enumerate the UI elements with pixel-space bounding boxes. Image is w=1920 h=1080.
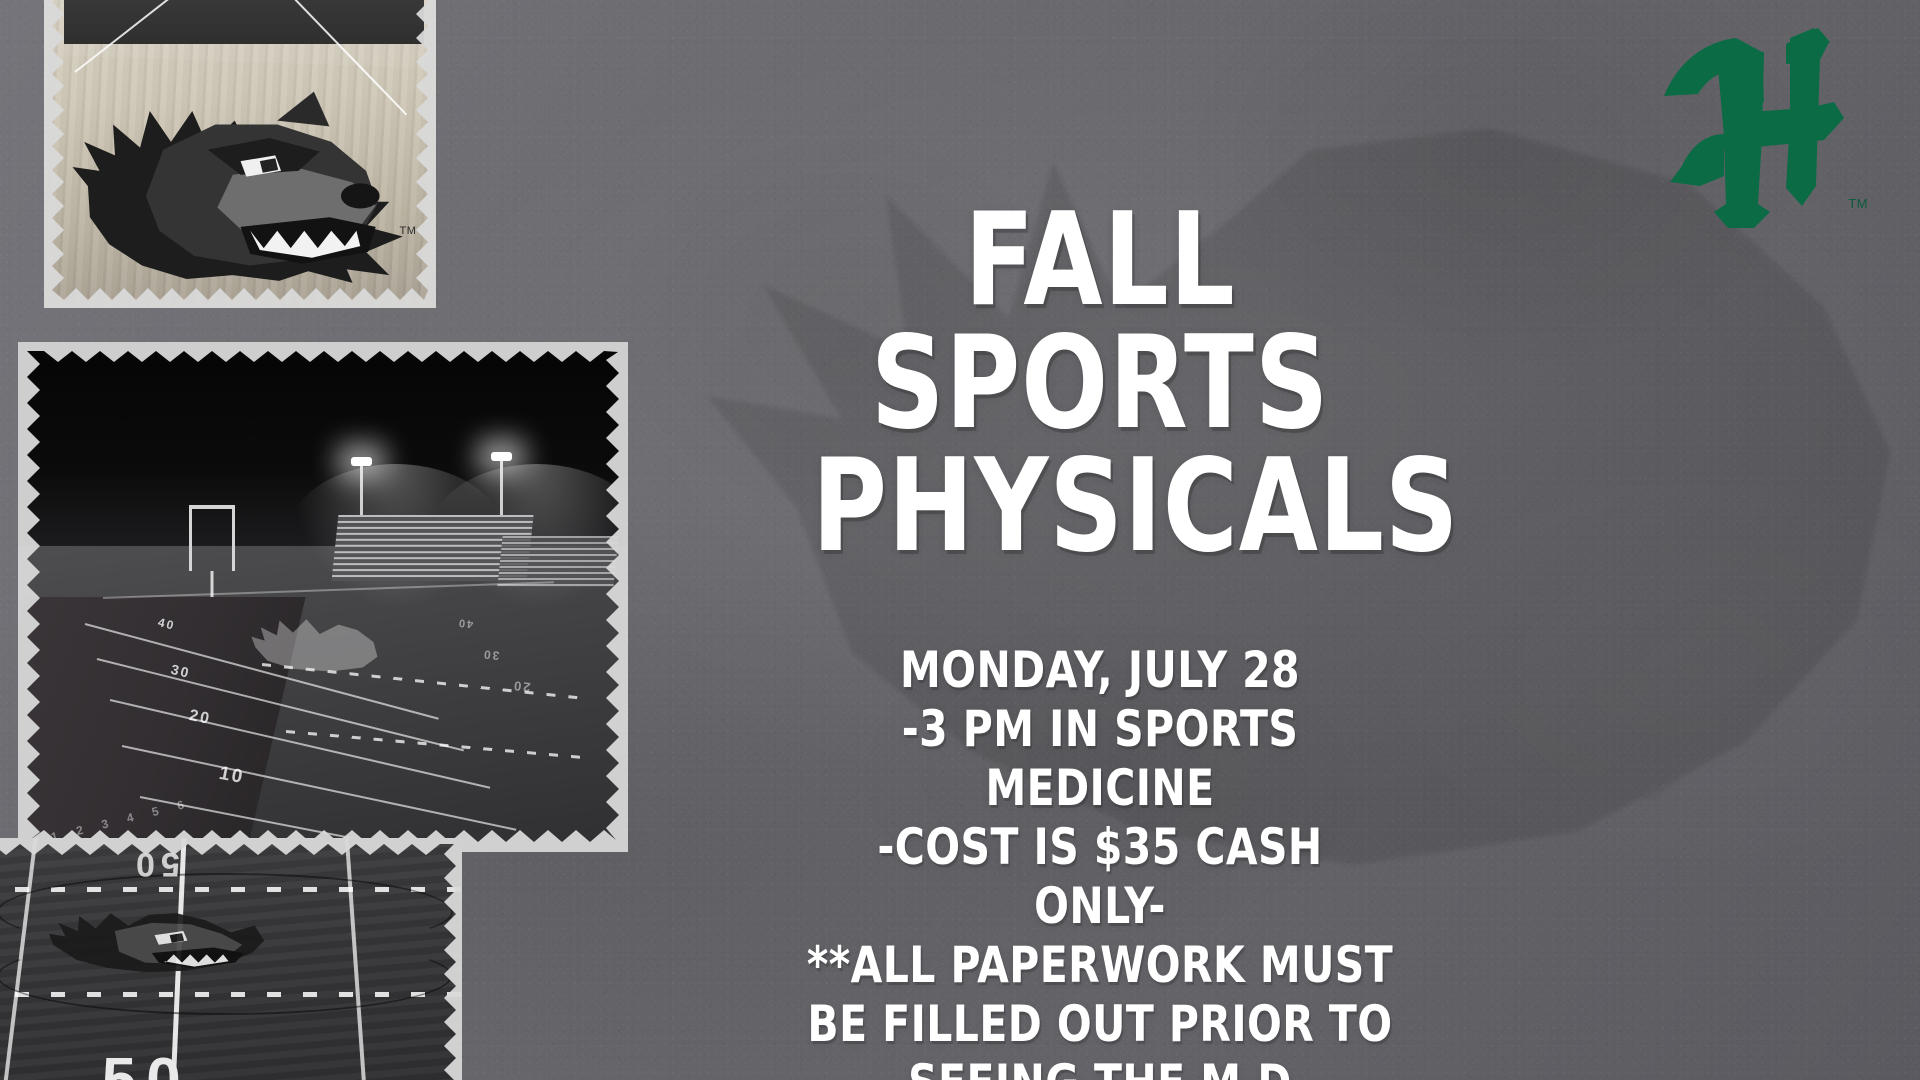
detail-line-note-2: BE FILLED OUT PRIOR TO bbox=[805, 995, 1395, 1054]
midfield-photo-inner: 50 50 bbox=[0, 838, 462, 1080]
midfield-yard-number: 50 bbox=[102, 1045, 191, 1080]
field-yard-number: 40 bbox=[457, 617, 474, 631]
detail-line-cost: -COST IS $35 CASH bbox=[805, 818, 1395, 877]
detail-line-note-3: SEEING THE M.D bbox=[805, 1054, 1395, 1080]
photo-midfield-logo: 50 50 bbox=[0, 838, 462, 1080]
field-yard-number: 30 bbox=[481, 647, 500, 663]
event-details: MONDAY, JULY 28 -3 PM IN SPORTS MEDICINE… bbox=[805, 641, 1395, 1080]
detail-line-note-1: **ALL PAPERWORK MUST bbox=[805, 936, 1395, 995]
detail-line-time: -3 PM IN SPORTS bbox=[805, 700, 1395, 759]
field-yard-number: 20 bbox=[511, 678, 531, 695]
goalpost bbox=[189, 505, 235, 571]
poster-canvas: TM 40 30 20 bbox=[0, 0, 1920, 1080]
detail-line-location: MEDICINE bbox=[805, 759, 1395, 818]
gym-trademark-label: TM bbox=[400, 225, 417, 237]
poster-content: FALL SPORTS PHYSICALS MONDAY, JULY 28 -3… bbox=[740, 200, 1460, 1080]
detail-line-cost-cont: ONLY- bbox=[805, 877, 1395, 936]
detail-line-date: MONDAY, JULY 28 bbox=[805, 641, 1395, 700]
headline-line-2: PHYSICALS bbox=[812, 446, 1388, 569]
midfield-yard-number-opposite: 50 bbox=[130, 844, 180, 883]
headline-line-1: FALL SPORTS bbox=[812, 200, 1388, 446]
midfield-wolf-mascot-icon bbox=[7, 905, 310, 980]
field-center-wolf-logo-icon bbox=[250, 607, 384, 678]
logo-trademark-label: TM bbox=[1848, 196, 1868, 211]
bleachers-secondary bbox=[497, 536, 618, 587]
field-photo-inner: 40 30 20 10 40 30 20 1 2 3 4 5 6 bbox=[18, 342, 628, 852]
gym-photo-inner: TM bbox=[44, 0, 436, 308]
wolf-mascot-icon bbox=[68, 82, 421, 285]
photo-gym-floor: TM bbox=[44, 0, 436, 308]
page-title: FALL SPORTS PHYSICALS bbox=[812, 200, 1388, 569]
school-h-logo-icon bbox=[1658, 16, 1870, 228]
photo-night-football-field: 40 30 20 10 40 30 20 1 2 3 4 5 6 bbox=[18, 342, 628, 852]
